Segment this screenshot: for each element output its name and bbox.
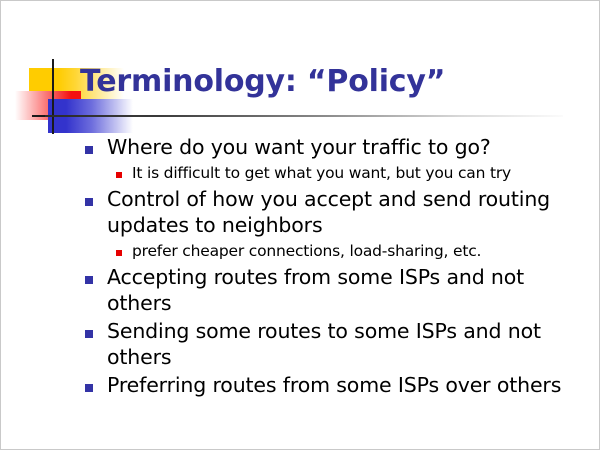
blue-square-bullet-icon bbox=[85, 198, 93, 206]
blue-square-bullet-icon bbox=[85, 146, 93, 154]
bullet-text: Sending some routes to some ISPs and not… bbox=[107, 318, 585, 371]
vertical-line-icon bbox=[52, 59, 54, 134]
bullet-text: Preferring routes from some ISPs over ot… bbox=[107, 372, 585, 399]
bullet-item-level2: prefer cheaper connections, load-sharing… bbox=[116, 240, 585, 262]
bullet-item-level1: Sending some routes to some ISPs and not… bbox=[85, 318, 585, 371]
bullet-item-level2: It is difficult to get what you want, bu… bbox=[116, 162, 585, 184]
bullet-item-level1: Accepting routes from some ISPs and not … bbox=[85, 264, 585, 317]
title-divider bbox=[45, 115, 563, 117]
bullet-text: Accepting routes from some ISPs and not … bbox=[107, 264, 585, 317]
blue-square-bullet-icon bbox=[85, 276, 93, 284]
red-square-bullet-icon bbox=[116, 250, 122, 256]
bullet-text: Where do you want your traffic to go? bbox=[107, 134, 585, 161]
slide-title: Terminology: “Policy” bbox=[80, 63, 580, 101]
slide-canvas: Terminology: “Policy” Where do you want … bbox=[0, 0, 600, 450]
bullet-item-level1: Where do you want your traffic to go? bbox=[85, 134, 585, 161]
blue-square-bullet-icon bbox=[85, 384, 93, 392]
bullet-item-level1: Preferring routes from some ISPs over ot… bbox=[85, 372, 585, 399]
bullet-item-level1: Control of how you accept and send routi… bbox=[85, 186, 585, 239]
bullet-text: prefer cheaper connections, load-sharing… bbox=[132, 240, 585, 262]
red-square-bullet-icon bbox=[116, 172, 122, 178]
bullet-text: It is difficult to get what you want, bu… bbox=[132, 162, 585, 184]
blue-square-bullet-icon bbox=[85, 330, 93, 338]
bullet-text: Control of how you accept and send routi… bbox=[107, 186, 585, 239]
slide-body-bullet-list: Where do you want your traffic to go?It … bbox=[85, 134, 585, 399]
